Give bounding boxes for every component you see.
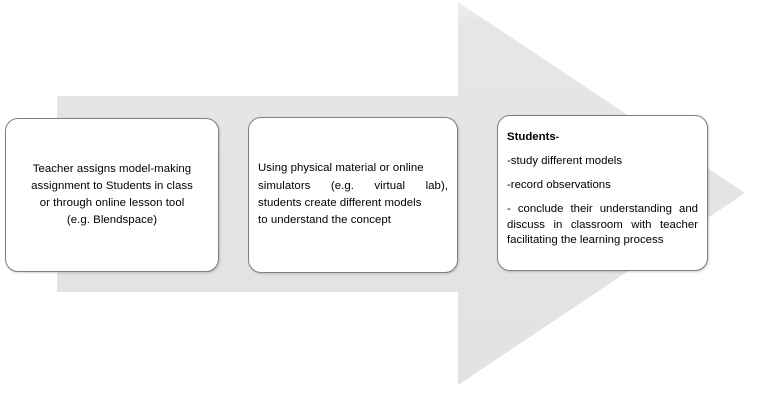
- diagram-canvas: Teacher assigns model-making assignment …: [0, 0, 757, 416]
- step-1-line-1: Teacher assigns model-making: [13, 161, 211, 178]
- step-2-line-2: simulators (e.g. virtual lab),: [258, 178, 448, 195]
- step-2-line-3: students create different models: [258, 195, 448, 212]
- step-3-box[interactable]: Students- -study different models -recor…: [497, 115, 708, 271]
- step-3-heading-dash: -: [556, 132, 559, 143]
- step-3-paragraph: - conclude their understanding and discu…: [507, 202, 698, 249]
- step-1-line-2: assignment to Students in class: [13, 178, 211, 195]
- step-3-heading-label: Students: [507, 131, 556, 143]
- step-3-item-2: -record observations: [507, 178, 698, 193]
- step-2-line-4: to understand the concept: [258, 212, 448, 229]
- step-2-box[interactable]: Using physical material or online simula…: [248, 117, 458, 273]
- step-3-heading: Students-: [507, 130, 698, 145]
- step-1-box[interactable]: Teacher assigns model-making assignment …: [5, 118, 219, 272]
- step-2-line-1: Using physical material or online: [258, 160, 448, 177]
- step-3-item-1: -study different models: [507, 154, 698, 169]
- step-1-line-4: (e.g. Blendspace): [13, 212, 211, 229]
- step-1-line-3: or through online lesson tool: [13, 195, 211, 212]
